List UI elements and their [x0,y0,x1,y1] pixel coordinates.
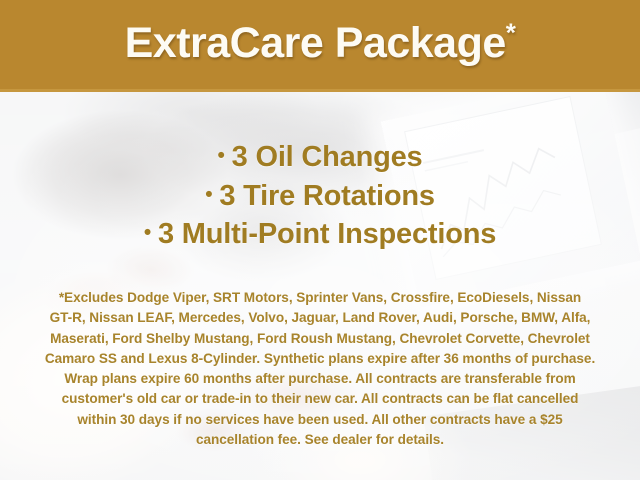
disclaimer-line: customer's old car or trade-in to their … [22,389,618,409]
bullet-icon: • [218,144,225,167]
list-item: •3 Tire Rotations [0,177,640,216]
benefit-label: 3 Oil Changes [232,141,423,173]
page-title-text: ExtraCare Package [125,19,506,67]
list-item: •3 Oil Changes [0,138,640,177]
disclaimer-line: Camaro SS and Lexus 8-Cylinder. Syntheti… [22,349,618,369]
disclaimer-line: Maserati, Ford Shelby Mustang, Ford Rous… [22,329,618,349]
benefit-label: 3 Multi-Point Inspections [158,218,496,250]
list-item: •3 Multi-Point Inspections [0,215,640,254]
page-title-asterisk: * [506,18,516,48]
disclaimer-line: cancellation fee. See dealer for details… [22,430,618,450]
bullet-icon: • [144,221,151,244]
disclaimer-line: within 30 days if no services have been … [22,410,618,430]
page-title: ExtraCare Package* [125,22,516,65]
benefits-list: •3 Oil Changes •3 Tire Rotations •3 Mult… [0,138,640,254]
bullet-icon: • [205,183,212,206]
disclaimer-text: *Excludes Dodge Viper, SRT Motors, Sprin… [22,288,618,450]
extracare-package-poster: ExtraCare Package* •3 Oil Changes •3 Tir… [0,0,640,480]
benefit-label: 3 Tire Rotations [219,180,434,212]
disclaimer-line: *Excludes Dodge Viper, SRT Motors, Sprin… [22,288,618,308]
disclaimer-line: GT-R, Nissan LEAF, Mercedes, Volvo, Jagu… [22,308,618,328]
header-band: ExtraCare Package* [0,0,640,92]
disclaimer-line: Wrap plans expire 60 months after purcha… [22,369,618,389]
